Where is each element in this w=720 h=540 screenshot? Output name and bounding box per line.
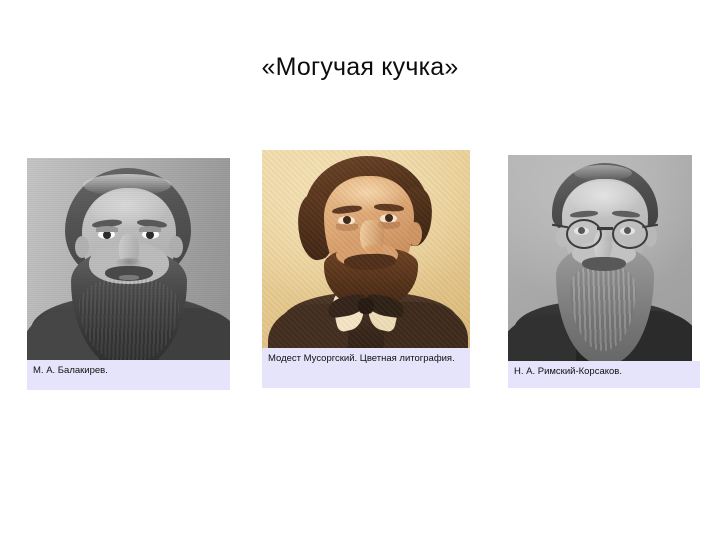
page-title: «Могучая кучка» <box>0 52 720 82</box>
portrait-artwork <box>262 150 470 348</box>
left-glasses-lens <box>566 219 602 249</box>
presentation-slide: «Могучая кучка» <box>0 0 720 540</box>
portrait-image-rimsky-korsakov <box>508 155 692 361</box>
photo-grain-overlay <box>27 158 230 360</box>
portrait-artwork <box>508 155 692 361</box>
portrait-artwork <box>27 158 230 360</box>
portrait-card-mussorgsky[interactable]: Модест Мусоргский. Цветная литография. <box>262 150 470 388</box>
portrait-caption-mussorgsky: Модест Мусоргский. Цветная литография. <box>262 348 470 388</box>
portrait-card-balakirev[interactable]: М. А. Балакирев. <box>27 158 230 390</box>
portrait-image-balakirev <box>27 158 230 360</box>
portrait-caption-rimsky-korsakov: Н. А. Римский-Корсаков. <box>508 361 700 388</box>
mustache-shape <box>582 257 626 271</box>
portrait-card-rimsky-korsakov[interactable]: Н. А. Римский-Корсаков. <box>508 155 692 388</box>
portrait-caption-balakirev: М. А. Балакирев. <box>27 360 230 390</box>
right-glasses-lens <box>612 219 648 249</box>
lithograph-texture <box>262 150 470 348</box>
portrait-image-mussorgsky <box>262 150 470 348</box>
glasses-bridge <box>597 227 613 230</box>
